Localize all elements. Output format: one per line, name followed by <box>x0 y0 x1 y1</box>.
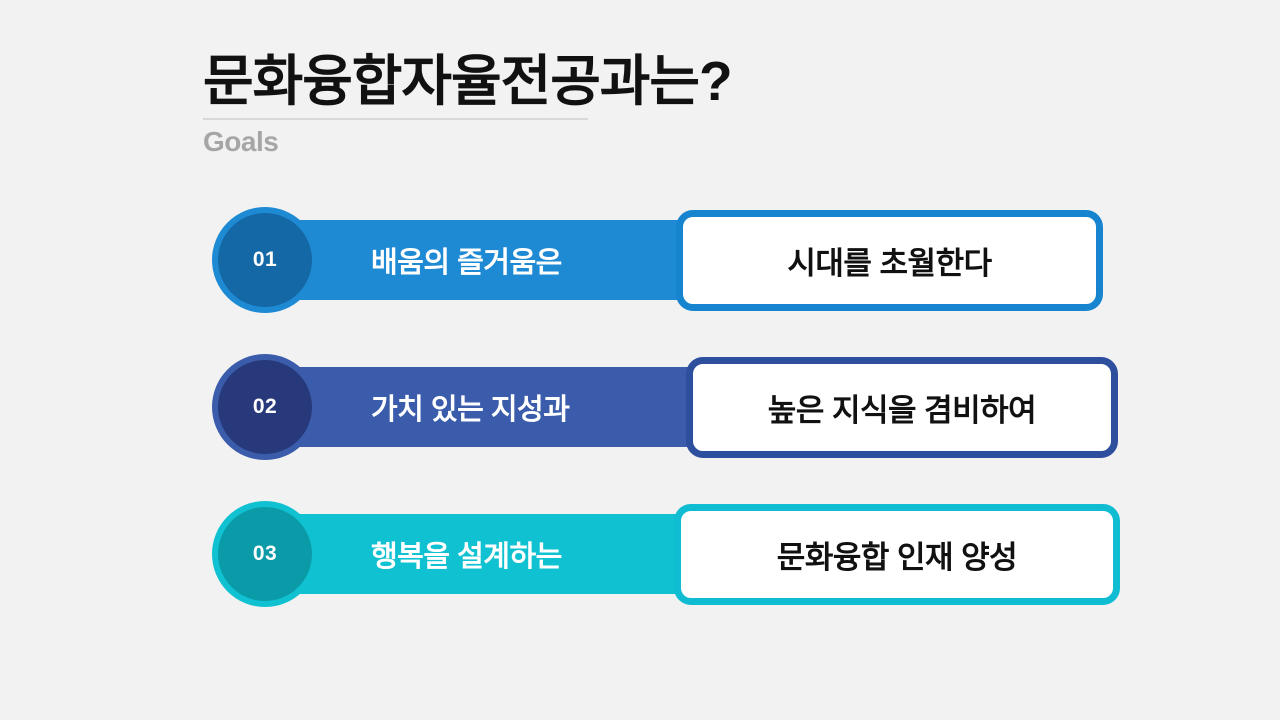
goal-box-label: 높은 지식을 겸비하여 <box>768 385 1036 430</box>
goal-bar-label: 가치 있는 지성과 <box>371 386 569 428</box>
goal-row: 행복을 설계하는 문화융합 인재 양성 03 <box>0 489 1280 614</box>
goal-number-circle: 02 <box>212 354 318 460</box>
goal-number-label: 01 <box>253 248 277 272</box>
goal-number-circle-inner: 03 <box>218 507 312 601</box>
page-title: 문화융합자율전공과는? <box>203 52 1103 111</box>
goal-row: 가치 있는 지성과 높은 지식을 겸비하여 02 <box>0 342 1280 467</box>
goal-number-circle: 01 <box>212 207 318 313</box>
goal-bar-label: 행복을 설계하는 <box>371 533 562 575</box>
goal-number-circle: 03 <box>212 501 318 607</box>
slide-header: 문화융합자율전공과는? Goals <box>203 52 1103 158</box>
goal-number-circle-inner: 01 <box>218 213 312 307</box>
goal-list: 배움의 즐거움은 시대를 초월한다 01 가치 있는 지성과 높은 지식을 겸비… <box>0 195 1280 570</box>
goal-box: 시대를 초월한다 <box>676 210 1103 311</box>
goal-number-circle-inner: 02 <box>218 360 312 454</box>
goal-row: 배움의 즐거움은 시대를 초월한다 01 <box>0 195 1280 320</box>
goal-box: 문화융합 인재 양성 <box>674 504 1120 605</box>
page-subtitle: Goals <box>203 126 1103 158</box>
goal-number-label: 03 <box>253 542 277 566</box>
goal-number-label: 02 <box>253 395 277 419</box>
goal-box: 높은 지식을 겸비하여 <box>686 357 1118 458</box>
goal-box-label: 문화융합 인재 양성 <box>777 532 1017 577</box>
title-divider <box>203 118 588 120</box>
goal-bar-label: 배움의 즐거움은 <box>371 239 562 281</box>
goal-box-label: 시대를 초월한다 <box>787 238 991 283</box>
